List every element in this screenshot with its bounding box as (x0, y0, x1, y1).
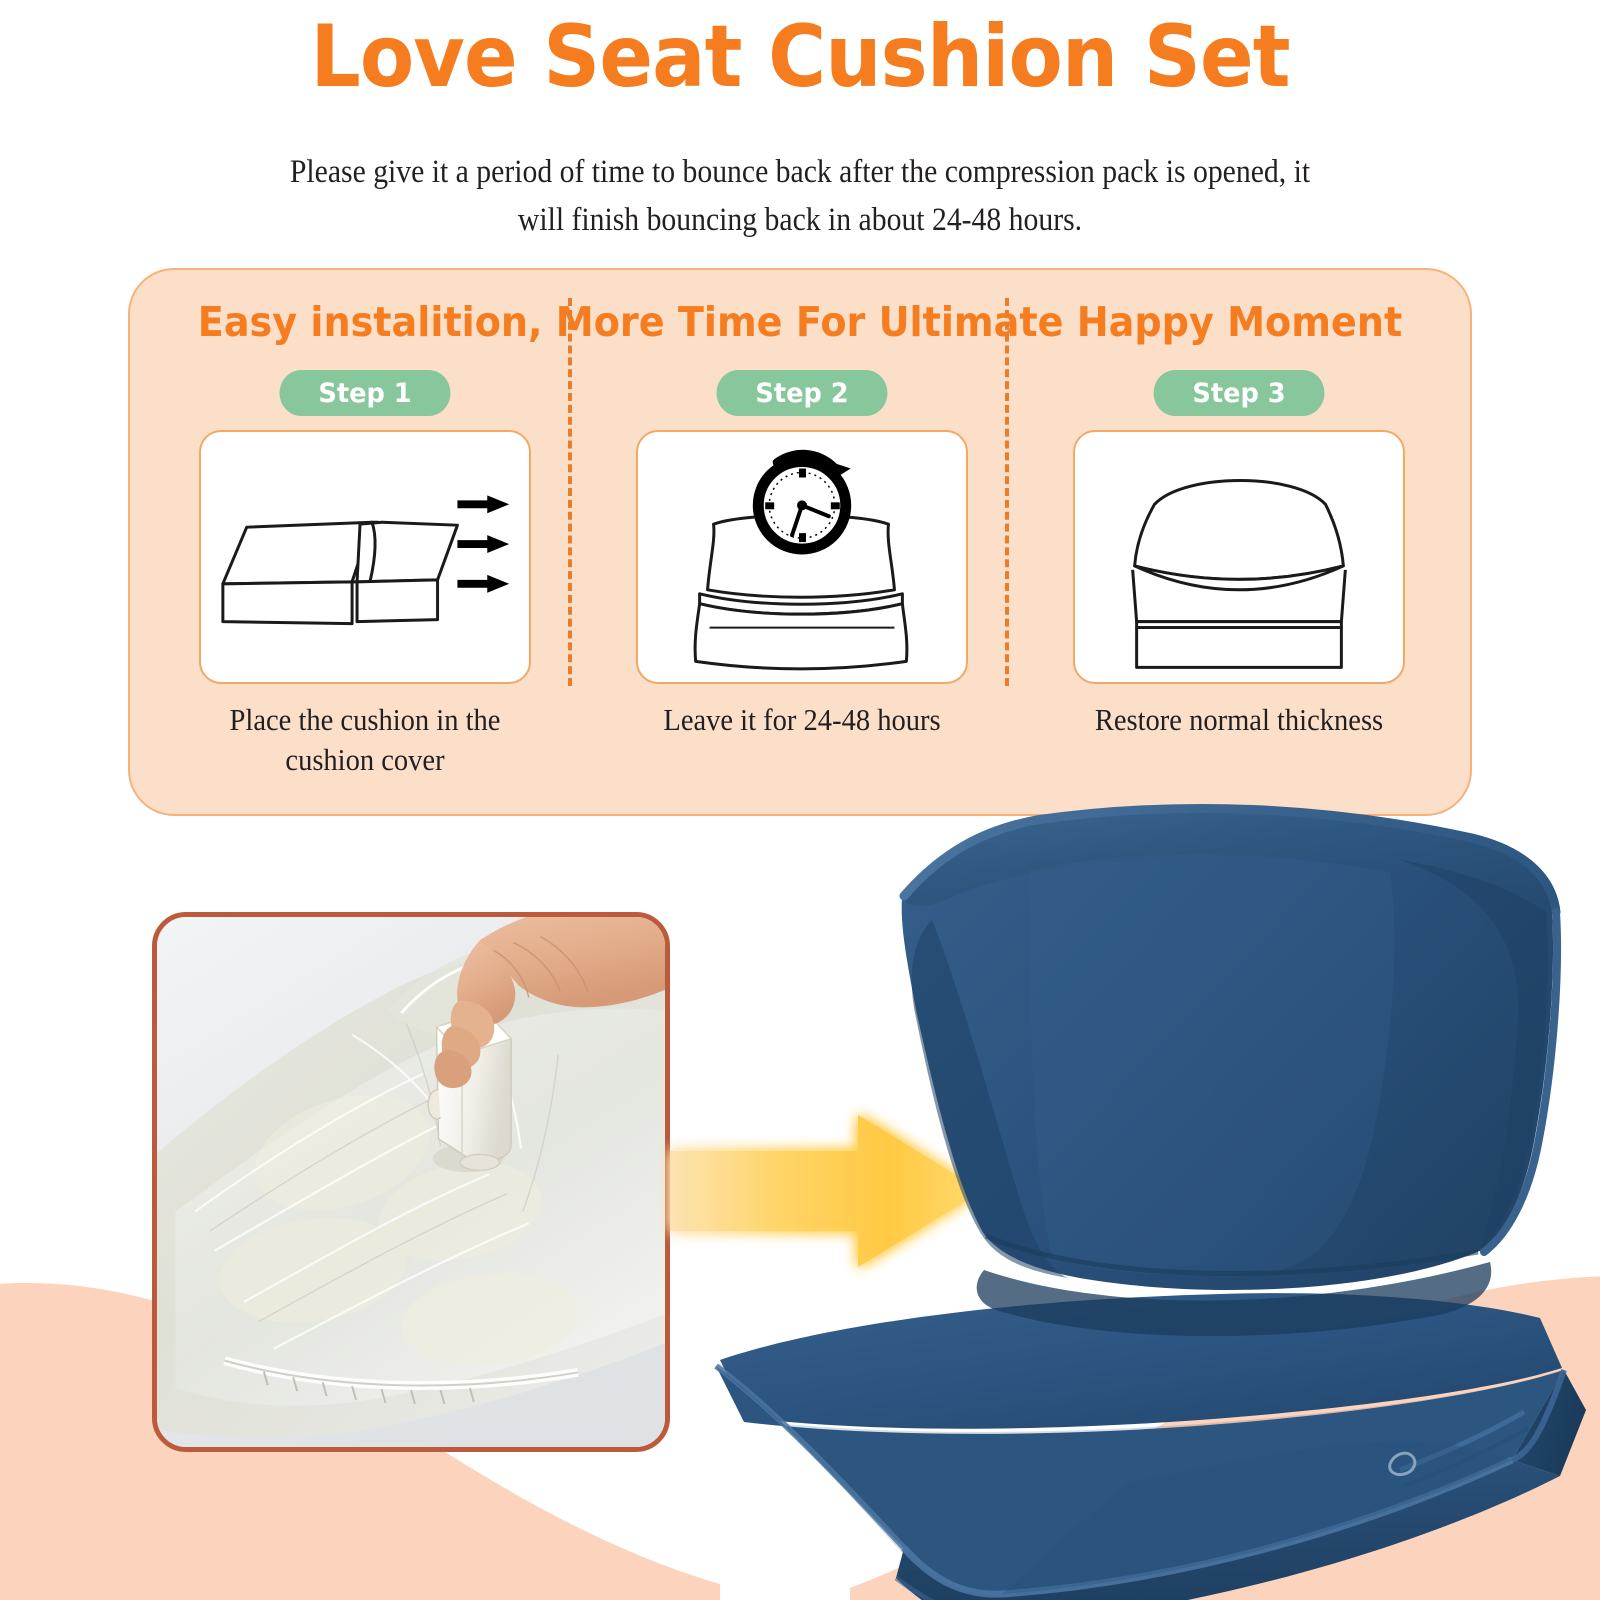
step-divider-1 (568, 298, 572, 686)
steps-panel: Easy instalition, More Time For Ultimate… (128, 268, 1472, 816)
step-badge-3: Step 3 (1154, 370, 1325, 416)
navy-cushion-set-illustration (700, 770, 1600, 1600)
page-subtitle: Please give it a period of time to bounc… (287, 148, 1313, 244)
cushion-sliding-into-cover-icon (201, 432, 529, 682)
step-illustration-box-1 (199, 430, 531, 684)
vacuum-bag-illustration (157, 917, 665, 1447)
step-badge-2: Step 2 (717, 370, 888, 416)
step-column-3: Step 3 Restore normal thickness (1044, 370, 1434, 740)
step-column-1: Step 1 (170, 370, 560, 779)
cushion-restored-thickness-icon (1075, 432, 1403, 682)
clock-glyph (758, 454, 850, 549)
step-divider-2 (1005, 298, 1009, 686)
seat-cushion (716, 1293, 1586, 1600)
step-illustration-box-2 (636, 430, 968, 684)
steps-panel-heading: Easy instalition, More Time For Ultimate… (177, 298, 1423, 346)
cushion-product-image (700, 770, 1600, 1600)
step-badge-1: Step 1 (280, 370, 451, 416)
step-caption-1: Place the cushion in the cushion cover (186, 700, 545, 779)
cushion-with-clock-icon (638, 432, 966, 682)
step-caption-3: Restore normal thickness (1060, 700, 1419, 740)
infographic-canvas: Love Seat Cushion Set Please give it a p… (0, 0, 1600, 1600)
step-caption-2: Leave it for 24-48 hours (623, 700, 982, 740)
step-column-2: Step 2 (607, 370, 997, 740)
vacuum-bag-photo (152, 912, 670, 1452)
back-pillow (902, 808, 1557, 1290)
step-illustration-box-3 (1073, 430, 1405, 684)
page-title: Love Seat Cushion Set (64, 10, 1536, 105)
